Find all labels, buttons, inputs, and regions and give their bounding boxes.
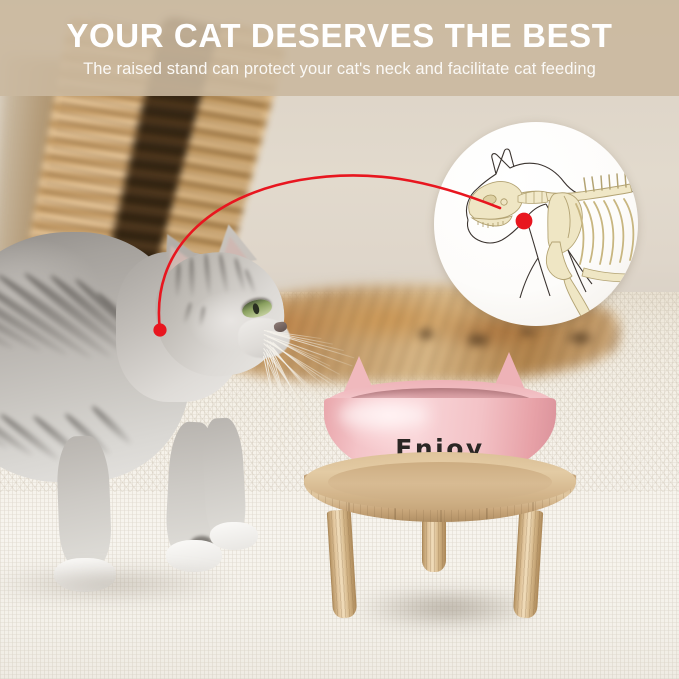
bamboo-raised-stand — [294, 452, 586, 628]
stand-leg-center-grain — [422, 514, 446, 572]
red-dot-marker-cat — [153, 323, 166, 336]
banner-title: YOUR CAT DESERVES THE BEST — [66, 19, 612, 52]
stand-tabletop-inner-ring — [328, 462, 552, 502]
curved-pointer-line — [159, 175, 500, 330]
product-infographic: Enjoy YOUR CAT DESERVES THE BEST The rai… — [0, 0, 679, 679]
red-dot-marker-skeleton — [516, 213, 533, 230]
bowl-highlight — [338, 402, 428, 428]
stand-leg-center — [422, 514, 446, 572]
headline-banner: YOUR CAT DESERVES THE BEST The raised st… — [0, 0, 679, 96]
banner-subtitle: The raised stand can protect your cat's … — [83, 61, 596, 78]
